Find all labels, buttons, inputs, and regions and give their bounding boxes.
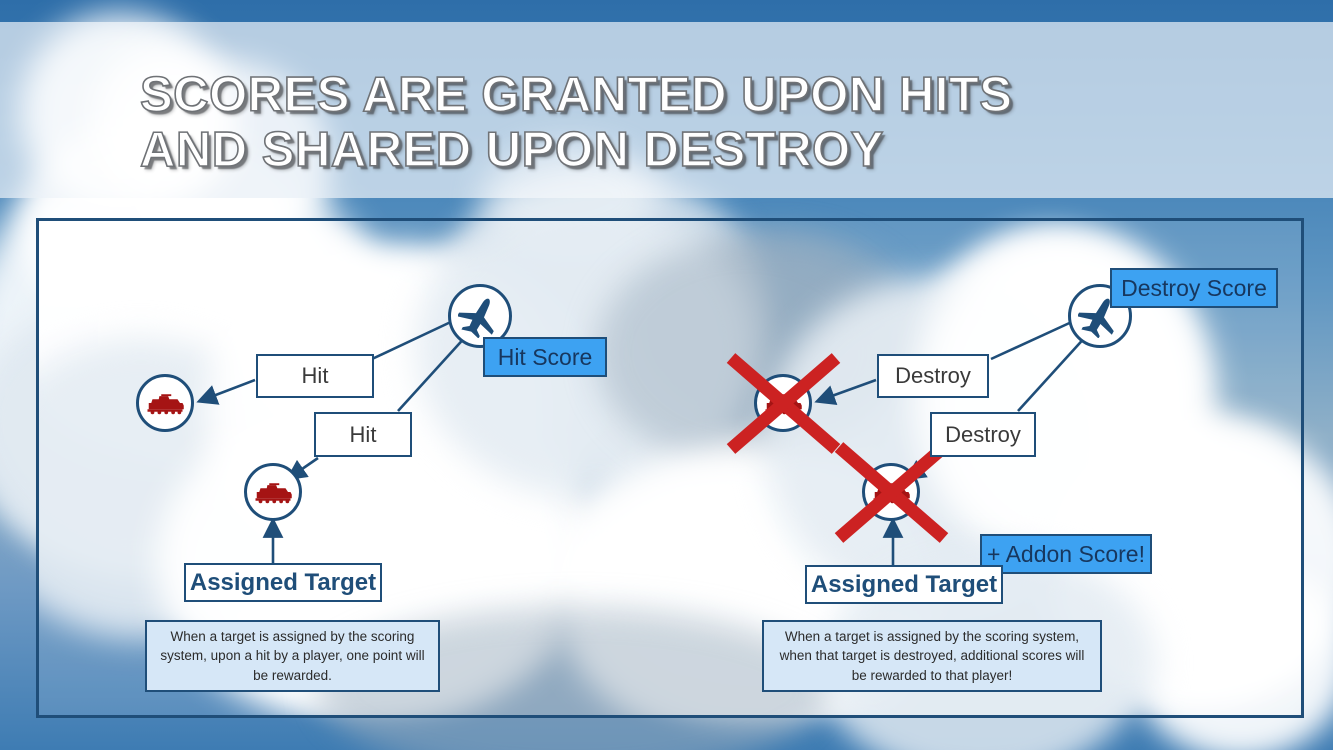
destroy-label-upper: Destroy [877,354,989,398]
red-cross-destroyed-icon [731,358,836,449]
destroy-label-lower: Destroy [930,412,1036,457]
slide-canvas: SCORES ARE GRANTED UPON HITS AND SHARED … [0,0,1333,750]
addon-score-badge: + Addon Score! [980,534,1152,574]
assigned-target-label-right: Assigned Target [805,565,1003,604]
red-cross-destroyed-icon [839,447,944,538]
destroyed-markers [0,0,1333,750]
right-explanation-caption: When a target is assigned by the scoring… [762,620,1102,692]
destroy-score-badge: Destroy Score [1110,268,1278,308]
